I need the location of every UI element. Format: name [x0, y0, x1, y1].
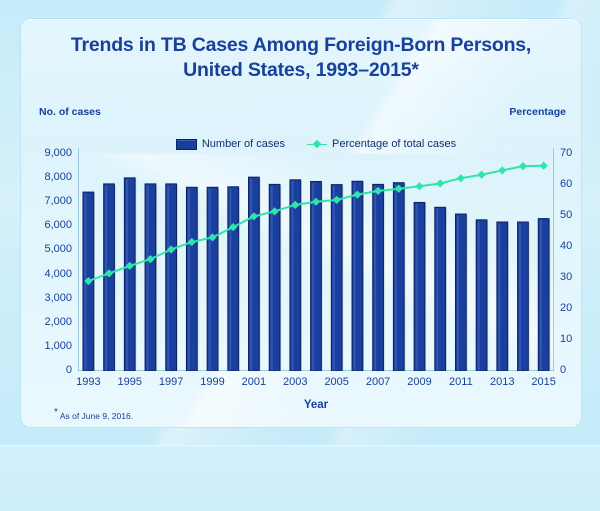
legend-label-bars: Number of cases: [202, 138, 285, 150]
y-left-tick: 6,000: [26, 219, 72, 231]
y-left-tick: 2,000: [26, 316, 72, 328]
title-line-2: United States, 1993–2015*: [21, 58, 581, 83]
bar-2004: [311, 181, 323, 371]
bar-1999: [207, 187, 219, 371]
bar-swatch-icon: [176, 139, 197, 150]
bar-2014: [518, 222, 530, 371]
y-left-tick: 4,000: [26, 268, 72, 280]
footnote: * As of June 9, 2016.: [54, 407, 133, 421]
legend-item-bars: Number of cases: [176, 138, 285, 150]
bar-1995: [124, 178, 136, 371]
footnote-text: As of June 9, 2016.: [60, 411, 133, 421]
y-left-tick: 9,000: [26, 147, 72, 159]
x-tick: 2013: [482, 376, 522, 388]
legend-item-line: Percentage of total cases: [307, 138, 456, 150]
y-left-tick: 8,000: [26, 171, 72, 183]
bar-2015: [538, 219, 550, 371]
bar-2008: [393, 183, 405, 371]
y-right-tick: 60: [560, 178, 582, 190]
x-tick: 2005: [317, 376, 357, 388]
page-footer-band: [0, 445, 600, 511]
bar-2003: [290, 180, 302, 371]
y-right-tick: 20: [560, 302, 582, 314]
y-right-tick: 0: [560, 364, 582, 376]
x-tick: 2003: [275, 376, 315, 388]
chart-plot-area: Number of cases Percentage of total case…: [78, 136, 554, 371]
left-axis-caption: No. of cases: [39, 106, 101, 118]
x-tick: 2009: [399, 376, 439, 388]
bar-2000: [228, 187, 240, 371]
bar-2006: [352, 181, 364, 371]
x-tick: 2015: [524, 376, 564, 388]
y-right-tick: 70: [560, 147, 582, 159]
y-left-tick: 3,000: [26, 292, 72, 304]
y-left-tick: 7,000: [26, 195, 72, 207]
x-tick: 1997: [151, 376, 191, 388]
y-right-tick: 30: [560, 271, 582, 283]
bar-1996: [145, 184, 157, 371]
footnote-marker: *: [54, 407, 58, 418]
bar-1994: [104, 184, 116, 371]
page-title: Trends in TB Cases Among Foreign-Born Pe…: [21, 33, 581, 83]
bar-1998: [186, 187, 198, 371]
bar-1997: [166, 184, 178, 371]
chart-legend: Number of cases Percentage of total case…: [78, 136, 554, 152]
x-tick: 1995: [110, 376, 150, 388]
bar-2012: [476, 220, 488, 371]
x-tick: 2001: [234, 376, 274, 388]
chart-canvas: [78, 136, 554, 371]
y-right-tick: 10: [560, 333, 582, 345]
bar-2013: [497, 222, 509, 371]
x-tick: 2011: [441, 376, 481, 388]
right-axis-caption: Percentage: [509, 106, 566, 118]
title-line-1: Trends in TB Cases Among Foreign-Born Pe…: [21, 33, 581, 58]
line-swatch-icon: [307, 140, 327, 149]
y-left-tick: 0: [26, 364, 72, 376]
y-right-tick: 50: [560, 209, 582, 221]
y-left-tick: 5,000: [26, 243, 72, 255]
bar-2007: [373, 184, 385, 371]
x-tick: 1999: [193, 376, 233, 388]
legend-label-line: Percentage of total cases: [332, 138, 456, 150]
y-left-tick: 1,000: [26, 340, 72, 352]
x-axis-title: Year: [78, 399, 554, 411]
bar-2005: [331, 185, 343, 371]
bar-2010: [435, 207, 447, 371]
bar-2001: [249, 177, 261, 371]
bar-2009: [414, 202, 426, 371]
chart-panel: Trends in TB Cases Among Foreign-Born Pe…: [20, 18, 582, 428]
x-tick: 1993: [68, 376, 108, 388]
x-tick: 2007: [358, 376, 398, 388]
y-right-tick: 40: [560, 240, 582, 252]
bar-2011: [455, 214, 467, 371]
